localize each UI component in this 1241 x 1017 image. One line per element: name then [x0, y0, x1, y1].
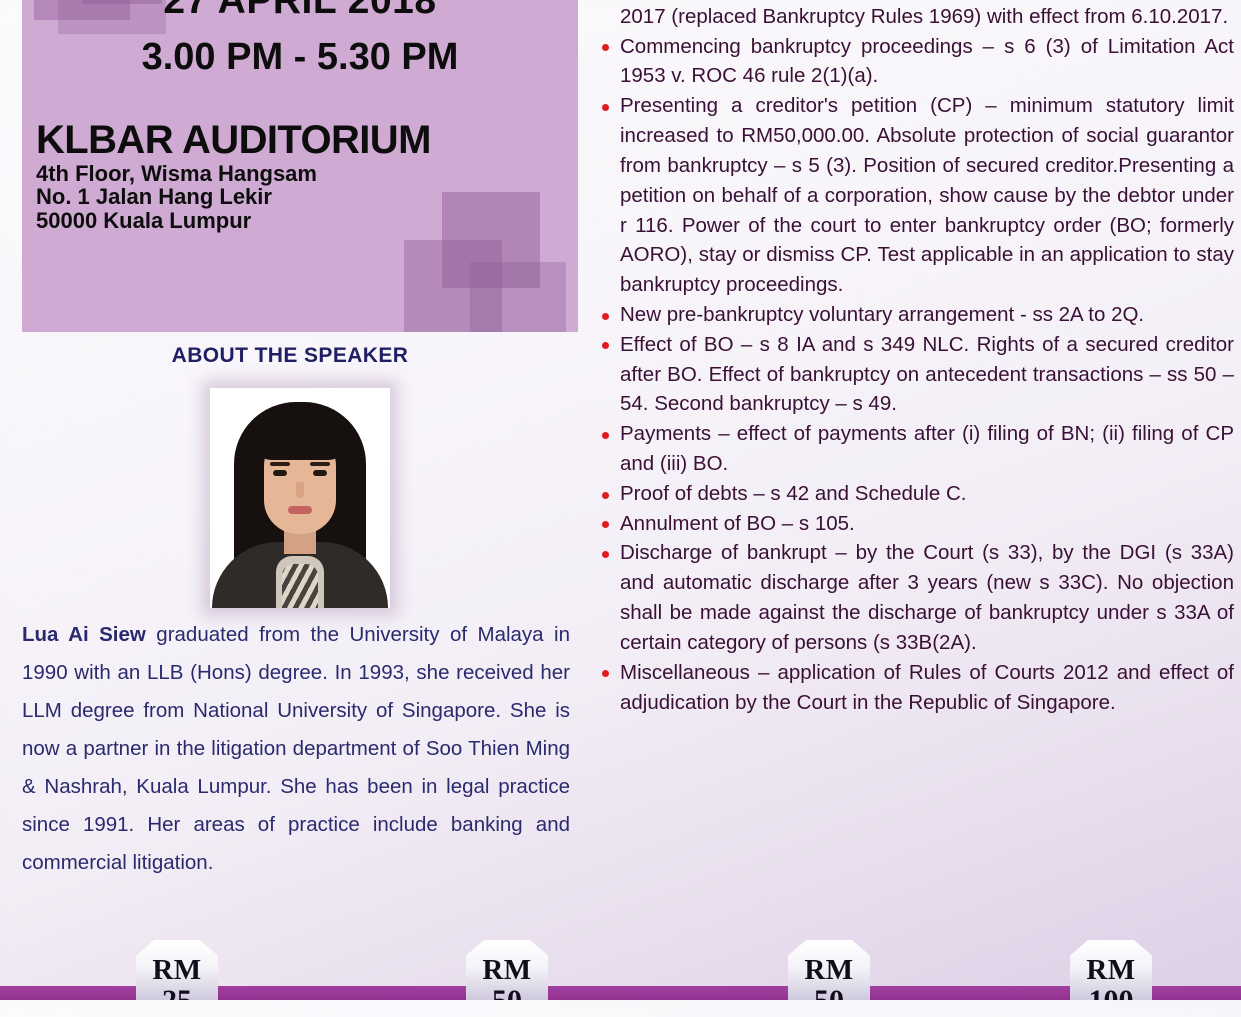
- topic-text: Proof of debts – s 42 and Schedule C.: [620, 482, 966, 505]
- topic-list-item: Miscellaneous – application of Rules of …: [594, 658, 1234, 718]
- speaker-photo: [210, 388, 390, 608]
- topic-list-item: Payments – effect of payments after (i) …: [594, 419, 1234, 479]
- topic-text: Commencing bankruptcy proceedings – s 6 …: [620, 35, 1234, 88]
- price-currency: RM: [1070, 940, 1152, 985]
- bullet-icon: [602, 342, 609, 349]
- venue-address-line-2: No. 1 Jalan Hang Lekir: [36, 185, 564, 209]
- topic-list-item: Discharge of bankrupt – by the Court (s …: [594, 538, 1234, 657]
- bullet-icon: [602, 432, 609, 439]
- speaker-bio-text: graduated from the University of Malaya …: [22, 623, 570, 874]
- left-column: 27 APRIL 2018 3.00 PM - 5.30 PM KLBAR AU…: [0, 0, 580, 1000]
- topic-list-item: Commencing bankruptcy proceedings – s 6 …: [594, 32, 1234, 92]
- bullet-icon: [602, 670, 609, 677]
- price-amount: 25: [136, 985, 218, 1017]
- topic-list-item: Effect of BO – s 8 IA and s 349 NLC. Rig…: [594, 330, 1234, 419]
- speaker-bio: Lua Ai Siew graduated from the Universit…: [22, 616, 570, 881]
- topic-list-item: Proof of debts – s 42 and Schedule C.: [594, 479, 1234, 509]
- event-details-panel: 27 APRIL 2018 3.00 PM - 5.30 PM KLBAR AU…: [22, 0, 578, 332]
- topic-list: Insolvency Act 1967) and introduction of…: [594, 0, 1234, 717]
- bullet-icon: [602, 492, 609, 499]
- price-amount: 100: [1070, 985, 1152, 1017]
- topic-list-item: Insolvency Act 1967) and introduction of…: [594, 0, 1234, 32]
- event-date: 27 APRIL 2018: [36, 0, 564, 21]
- price-badge: RM 100: [1070, 940, 1152, 1000]
- event-time: 3.00 PM - 5.30 PM: [36, 37, 564, 77]
- right-column: Insolvency Act 1967) and introduction of…: [580, 0, 1241, 1000]
- topic-text: Presenting a creditor's petition (CP) – …: [620, 94, 1234, 296]
- topic-text: Annulment of BO – s 105.: [620, 512, 855, 535]
- price-badge: RM 50: [466, 940, 548, 1000]
- venue-address-line-1: 4th Floor, Wisma Hangsam: [36, 162, 564, 186]
- topic-text: Payments – effect of payments after (i) …: [620, 422, 1234, 475]
- bullet-icon: [602, 44, 609, 51]
- topic-list-item: New pre-bankruptcy voluntary arrangement…: [594, 300, 1234, 330]
- topic-text: Discharge of bankrupt – by the Court (s …: [620, 541, 1234, 653]
- price-badge: RM 25: [136, 940, 218, 1000]
- venue-address-line-3: 50000 Kuala Lumpur: [36, 209, 564, 233]
- topic-text: Miscellaneous – application of Rules of …: [620, 661, 1234, 714]
- about-speaker-heading: ABOUT THE SPEAKER: [0, 344, 580, 368]
- bullet-icon: [602, 104, 609, 111]
- price-badge: RM 50: [788, 940, 870, 1000]
- topic-text: Insolvency Act 1967) and introduction of…: [620, 0, 1234, 28]
- speaker-portrait-image: [210, 388, 390, 608]
- bullet-icon: [602, 521, 609, 528]
- decorative-square-icon: [404, 240, 502, 332]
- price-currency: RM: [466, 940, 548, 985]
- topic-text: New pre-bankruptcy voluntary arrangement…: [620, 303, 1144, 326]
- speaker-name: Lua Ai Siew: [22, 623, 146, 646]
- venue-name: KLBAR AUDITORIUM: [36, 120, 564, 160]
- price-currency: RM: [788, 940, 870, 985]
- decorative-square-icon: [470, 262, 566, 332]
- topic-list-item: Annulment of BO – s 105.: [594, 509, 1234, 539]
- topic-text: Effect of BO – s 8 IA and s 349 NLC. Rig…: [620, 333, 1234, 416]
- topic-list-item: Presenting a creditor's petition (CP) – …: [594, 91, 1234, 300]
- bullet-icon: [602, 551, 609, 558]
- price-amount: 50: [466, 985, 548, 1017]
- price-currency: RM: [136, 940, 218, 985]
- event-text-block: 27 APRIL 2018 3.00 PM - 5.30 PM KLBAR AU…: [36, 0, 564, 233]
- bullet-icon: [602, 313, 609, 320]
- price-amount: 50: [788, 985, 870, 1017]
